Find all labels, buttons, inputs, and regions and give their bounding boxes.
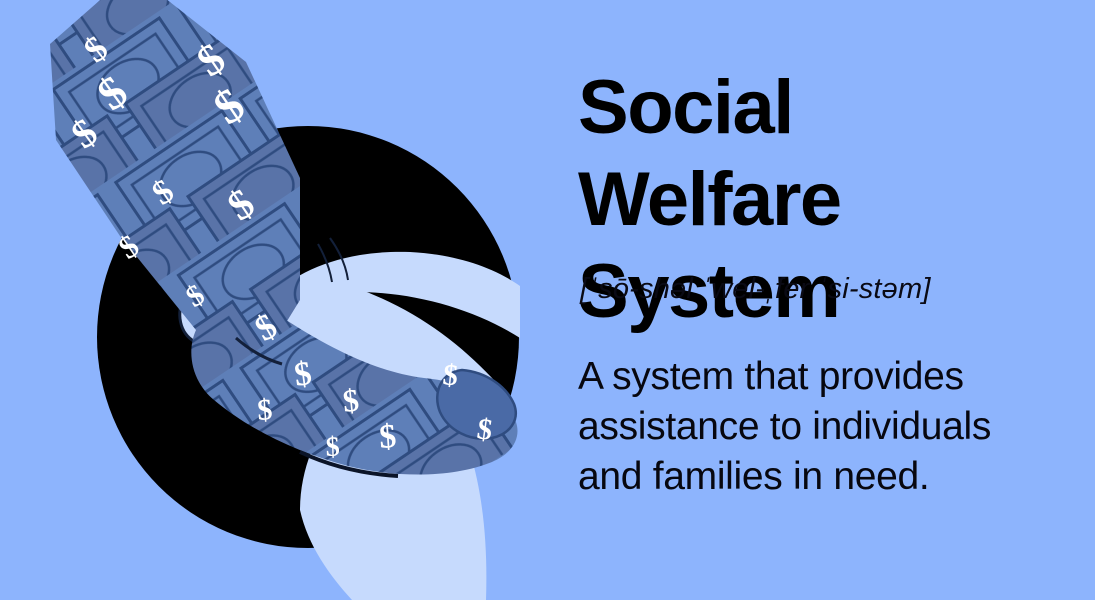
definition-card: $ $ $ $ $ $ $ $ $ $ $ $ $ $ $ $ $ (0, 0, 1095, 600)
phonetic-transcription: [ˈsō-shəl ˈwel-ˌfer ˈsi-stəm] (580, 272, 931, 306)
text-panel: Social Welfare System [ˈsō-shəl ˈwel-ˌfe… (578, 0, 1068, 600)
definition-text: A system that provides assistance to ind… (578, 352, 1048, 502)
svg-text:$: $ (325, 432, 340, 463)
illustration-svg: $ $ $ $ $ $ $ $ $ $ $ $ $ $ $ $ $ (0, 0, 560, 600)
svg-text:$: $ (256, 393, 273, 427)
handshake-money-illustration: $ $ $ $ $ $ $ $ $ $ $ $ $ $ $ $ $ (0, 0, 560, 600)
svg-text:$: $ (378, 418, 398, 456)
